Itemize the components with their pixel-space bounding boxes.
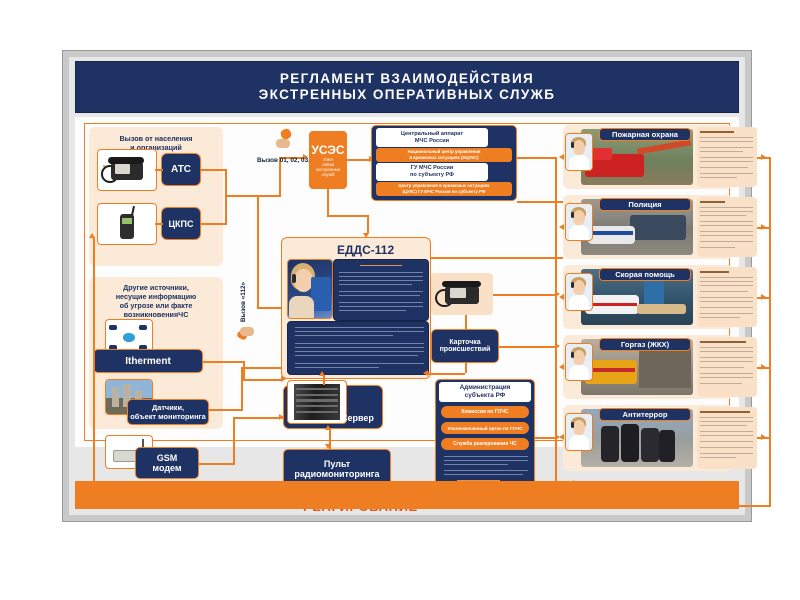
conn-112-down (257, 195, 259, 308)
hand-phone-icon-top (271, 129, 297, 153)
conn-sensors-server (241, 367, 281, 369)
edds-text-line (339, 291, 424, 292)
server-slot (296, 399, 338, 401)
administration-sub-label-1: Уполномоченный орган по ГОЧС (447, 426, 522, 431)
service-text-line (700, 215, 746, 216)
service-title-label-4: Антитеррор (623, 410, 668, 419)
edds-text-panel (333, 259, 429, 321)
bottom-loop-vertical (769, 437, 771, 507)
poster-footer-band (75, 481, 739, 509)
node-itherment-label: Itherment (125, 356, 171, 367)
conn-gsm-out (199, 463, 235, 465)
arrow-edds-server-up (319, 371, 325, 376)
node-radio-console-line2: радиомониторинга (294, 469, 379, 479)
avatar-face (573, 140, 585, 156)
mchs-block-2-line1: ГУ МЧС России (411, 165, 453, 172)
call-sources-group: Вызов от населения и организаций (89, 127, 223, 266)
node-gsm-label-line1: GSM (157, 453, 178, 463)
conn-uses-to-mchs (347, 159, 369, 161)
left-service-feed-bus (555, 157, 557, 439)
service-text-line (700, 351, 753, 352)
service-operator-avatar-1 (565, 203, 593, 241)
swat-figure (641, 428, 659, 463)
service-text-line (700, 457, 736, 458)
arrow-edds-card (423, 370, 428, 376)
arrow-gsm-radio (279, 414, 284, 420)
edds-text-panel-wide (287, 321, 429, 375)
mchs-block-0[interactable]: Центральный аппарат МЧС России (376, 128, 488, 147)
administration-sub-label-2: Служба реагирования ЧС (453, 441, 517, 447)
conn-mobile-ckps (155, 223, 163, 225)
mchs-block-3-line2: (ЦУКС) ГУ МЧС России по субъекту РФ (402, 189, 485, 195)
operator-body (289, 296, 314, 319)
service-text-heading-1 (700, 201, 725, 203)
service-text-heading-0 (700, 131, 734, 133)
avatar-headset (571, 352, 574, 358)
mchs-block-3[interactable]: Центр управления в кризисных ситуациях (… (376, 182, 512, 196)
ambulance-stripe (588, 303, 637, 306)
mchs-block-1-line2: в кризисных ситуациях (НЦУКС) (409, 155, 478, 161)
service-text-line (700, 301, 753, 302)
conn-itherment-server (243, 379, 281, 381)
conn-sensors-up (241, 367, 243, 409)
service-text-line (700, 157, 753, 158)
administration-title[interactable]: Администрация субъекта РФ (439, 382, 531, 402)
service-text-line (700, 297, 753, 298)
other-sources-title-line3: об угрозе или факте (120, 301, 193, 310)
service-operator-avatar-0 (565, 133, 593, 171)
poster-title-line-1: РЕГЛАМЕНТ ВЗАИМОДЕЙСТВИЯ (280, 71, 534, 87)
arrow-service-in-2 (559, 294, 564, 300)
arrow-service-in-0 (559, 154, 564, 160)
node-ckps-label: ЦКПС (168, 219, 193, 229)
arrow-radio-server-down (325, 444, 331, 449)
service-text-line (700, 421, 753, 422)
board-inner: РЕГЛАМЕНТ ВЗАИМОДЕЙСТВИЯ ЭКСТРЕННЫХ ОПЕР… (69, 57, 745, 515)
conn-left-trunk (225, 169, 227, 225)
mobile-phone-icon (97, 203, 157, 245)
service-text-line (700, 373, 753, 374)
administration-sub-block-0[interactable]: Комиссия по ГОЧС (441, 406, 529, 418)
conn-bus-top (517, 157, 555, 159)
server-slot (296, 405, 338, 407)
service-text-line (700, 383, 742, 384)
edds-text-line (339, 280, 424, 281)
node-sensors-label-line1: Датчики, (152, 403, 184, 412)
service-text-line (700, 291, 748, 292)
poster-header: РЕГЛАМЕНТ ВЗАИМОДЕЙСТВИЯ ЭКСТРЕННЫХ ОПЕР… (75, 61, 739, 113)
conn-sensors-out (209, 409, 243, 411)
service-text-line (700, 317, 740, 318)
conn-mchs-to-edds (327, 215, 369, 217)
conn-gsm-radio (233, 417, 283, 419)
node-uses[interactable]: УСЭС Узел связи экстренных служб (309, 131, 347, 189)
hub-node-1 (109, 325, 117, 330)
right-vertical-bus (769, 157, 771, 439)
hub-shape (123, 333, 134, 342)
service-text-line (700, 417, 753, 418)
hub-node-2 (139, 325, 147, 330)
edds-wide-line (295, 347, 424, 348)
edds-text-line (339, 306, 424, 307)
conn-edds-right (431, 257, 563, 259)
conn-trunk-right (225, 195, 281, 197)
service-text-line (700, 167, 748, 168)
avatar-body (569, 225, 589, 241)
mobile-screen-shape (122, 218, 132, 224)
edds-text-line (339, 284, 412, 285)
service-text-line (700, 285, 753, 286)
operator-headset (292, 274, 296, 283)
avatar-face (573, 280, 585, 296)
phone-handset-shape-2 (442, 281, 480, 288)
other-sources-title-line2: несущие информацию (116, 292, 197, 301)
conn-card-down (465, 363, 467, 373)
edds-wide-line (295, 335, 393, 336)
service-operator-avatar-4 (565, 413, 593, 451)
server-rack-icon (287, 380, 347, 424)
label-call-112: Вызов «112» (240, 282, 247, 322)
conn-ckps-out (201, 223, 227, 225)
desk-phone-icon (97, 149, 157, 191)
service-text-line (700, 281, 753, 282)
service-title-3[interactable]: Горгаз (ЖКХ) (599, 338, 691, 351)
service-text-line (700, 357, 753, 358)
edds-wide-line (295, 351, 424, 352)
service-text-line (700, 141, 753, 142)
facility-tower-1 (112, 387, 118, 407)
phone-display-shape-2 (450, 288, 466, 298)
conn-edds-card (427, 373, 465, 375)
edds-text-line (339, 295, 420, 296)
avatar-face (573, 420, 585, 436)
admin-text-line (444, 456, 529, 457)
police-stripe (590, 231, 633, 235)
service-text-line (700, 347, 753, 348)
service-text-line (700, 377, 753, 378)
conn-ats-out (201, 169, 227, 171)
edds-text-line (339, 310, 407, 311)
service-text-line (700, 161, 753, 162)
service-text-line (700, 151, 743, 152)
arrow-bottom-loop-up (89, 233, 95, 238)
service-text-line (700, 173, 753, 174)
server-slot (296, 394, 338, 396)
service-text-line (700, 207, 753, 208)
admin-text-line (444, 474, 523, 475)
service-text-line (700, 221, 753, 222)
poster-title-line-2: ЭКСТРЕННЫХ ОПЕРАТИВНЫХ СЛУЖБ (259, 87, 556, 103)
diagram-canvas: Вызов от населения и организаций АТС (75, 117, 739, 447)
service-title-0[interactable]: Пожарная охрана (599, 128, 691, 141)
service-title-label-3: Горгаз (ЖКХ) (621, 340, 669, 349)
avatar-body (569, 295, 589, 311)
node-ckps[interactable]: ЦКПС (161, 207, 201, 240)
service-text-heading-2 (700, 271, 729, 273)
service-text-line (700, 307, 753, 308)
desk-phone-icon-center (431, 273, 493, 315)
service-text-panel-4 (697, 407, 757, 469)
bottom-loop-left-up (93, 237, 95, 505)
administration-sub-block-2[interactable]: Служба реагирования ЧС (441, 438, 529, 450)
conn-admin-right (535, 437, 555, 439)
service-text-line (700, 441, 753, 442)
edds-text-heading (360, 265, 401, 266)
service-text-line (700, 447, 753, 448)
network-hub-icon (103, 165, 105, 167)
service-text-line (700, 211, 753, 212)
other-sources-title-line1: Другие источники, (123, 283, 189, 292)
service-title-label-2: Скорая помощь (615, 270, 675, 279)
server-slot (296, 411, 338, 413)
node-server-label: Сервер (341, 413, 374, 423)
swat-figure (621, 424, 639, 462)
other-sources-title-line4: возникновенияЧС (124, 310, 189, 319)
mchs-block-2-line2: по субъекту РФ (410, 172, 454, 179)
gas-van-stripe (588, 368, 635, 372)
call-sources-title-line1: Вызов от населения (119, 134, 192, 143)
edds-wide-line (295, 367, 379, 368)
service-text-line (700, 137, 753, 138)
node-uses-abbr: УСЭС (311, 143, 344, 157)
other-sources-title: Другие источники, несущие информацию об … (89, 283, 223, 319)
service-text-line (700, 231, 753, 232)
service-text-heading-4 (700, 411, 750, 413)
service-title-2[interactable]: Скорая помощь (599, 268, 691, 281)
palm-shape-2 (240, 327, 255, 337)
service-text-line (700, 241, 753, 242)
arrow-service-in-3 (559, 364, 564, 370)
edds-wide-line (295, 363, 424, 364)
node-radio-console-line1: Пульт (324, 459, 350, 469)
service-text-line (700, 225, 753, 226)
poster-board: РЕГЛАМЕНТ ВЗАИМОДЕЙСТВИЯ ЭКСТРЕННЫХ ОПЕР… (62, 50, 752, 522)
service-text-line (700, 367, 744, 368)
service-operator-avatar-2 (565, 273, 593, 311)
service-text-line (700, 235, 753, 236)
node-sensors[interactable]: Датчики, объект мониторинга (127, 399, 209, 425)
swat-figure (659, 430, 675, 462)
operator-face (294, 269, 312, 292)
node-gsm-modem[interactable]: GSM модем (135, 447, 199, 479)
administration-title-line2: субъекта РФ (465, 392, 505, 400)
node-incident-card-line1: Карточка (449, 339, 480, 346)
edds-operator-photo (287, 259, 333, 319)
avatar-headset (571, 282, 574, 288)
service-text-line (700, 177, 737, 178)
conn-phone-right (493, 294, 555, 296)
edds-wide-line (295, 331, 424, 332)
service-text-panel-2 (697, 267, 757, 327)
mchs-block-2[interactable]: ГУ МЧС России по субъекту РФ (376, 163, 488, 181)
damaged-building-shape (639, 345, 691, 389)
avatar-headset (571, 142, 574, 148)
conn-itherment-down (243, 361, 245, 381)
conn-mchs-edds-down (367, 215, 369, 233)
avatar-face (573, 350, 585, 366)
service-text-line (700, 435, 753, 436)
conn-edds-server (323, 375, 325, 385)
mchs-block-1[interactable]: Национальный центр управления в кризисны… (376, 148, 512, 162)
conn-card-right (499, 346, 555, 348)
avatar-face (573, 210, 585, 226)
administration-sub-label-0: Комиссия по ГОЧС (462, 409, 509, 415)
administration-title-line1: Администрация (460, 384, 511, 392)
palm-shape (276, 139, 291, 149)
edds-wide-line (295, 355, 418, 356)
service-text-line (700, 277, 753, 278)
arrow-service-in-1 (559, 224, 564, 230)
service-text-line (700, 247, 735, 248)
service-text-line (700, 425, 747, 426)
mchs-block-0-line2: МЧС России (415, 138, 449, 145)
avatar-headset (571, 422, 574, 428)
edds-text-line (339, 302, 424, 303)
arrow-service-in-4 (559, 434, 564, 440)
police-van-shape (630, 215, 686, 241)
administration-sub-block-1[interactable]: Уполномоченный орган по ГОЧС (441, 422, 529, 434)
phone-handset-shape (108, 157, 144, 163)
service-text-line (700, 453, 753, 454)
service-title-1[interactable]: Полиция (599, 198, 691, 211)
server-slot (296, 388, 338, 390)
admin-text-line (444, 464, 508, 465)
edds-wide-line (295, 343, 424, 344)
avatar-headset (571, 212, 574, 218)
node-itherment[interactable]: Itherment (93, 349, 203, 373)
service-text-line (700, 361, 753, 362)
service-text-panel-0 (697, 127, 757, 187)
avatar-body (569, 365, 589, 381)
service-title-label-0: Пожарная охрана (612, 130, 678, 139)
conn-admin-bottom (555, 437, 557, 485)
node-sensors-label-line2: объект мониторинга (130, 412, 206, 421)
node-ats[interactable]: АТС (161, 153, 201, 186)
operator-monitor (311, 277, 331, 311)
node-incident-card[interactable]: Карточка происшествий (431, 329, 499, 363)
avatar-body (569, 435, 589, 451)
conn-card-up (465, 315, 467, 329)
poster-stage: РЕГЛАМЕНТ ВЗАИМОДЕЙСТВИЯ ЭКСТРЕННЫХ ОПЕР… (0, 0, 800, 600)
phone-display-shape (115, 164, 130, 174)
service-text-panel-1 (697, 197, 757, 257)
service-title-label-1: Полиция (628, 200, 661, 209)
conn-112-to-edds (257, 307, 283, 309)
service-title-4[interactable]: Антитеррор (599, 408, 691, 421)
node-uses-sub-4: служб (321, 172, 334, 177)
service-text-line (700, 313, 753, 314)
admin-text-line (444, 460, 529, 461)
conn-gsm-up (233, 417, 235, 463)
mchs-block-0-line1: Центральный аппарат (401, 131, 463, 138)
conn-itherment-out (203, 361, 245, 363)
swat-figure (601, 426, 619, 462)
avatar-body (569, 155, 589, 171)
conn-phone-ats (155, 169, 163, 171)
node-ats-label: АТС (171, 164, 191, 175)
edds-text-line (339, 276, 424, 277)
edds-text-line (339, 272, 424, 273)
arrow-radio-server-up (325, 425, 331, 430)
edds-title: ЕДДС-112 (337, 243, 394, 257)
service-text-line (700, 147, 753, 148)
admin-text-line (444, 470, 529, 471)
node-gsm-label-line2: модем (152, 463, 181, 473)
service-text-line (700, 431, 753, 432)
patient-shape (637, 304, 686, 314)
service-text-heading-3 (700, 341, 746, 343)
node-incident-card-line2: происшествий (440, 346, 491, 353)
service-text-panel-3 (697, 337, 757, 397)
edds-wide-line (295, 327, 424, 328)
gas-van-shape (585, 360, 637, 384)
hand-phone-icon-bottom (235, 317, 261, 341)
service-operator-avatar-3 (565, 343, 593, 381)
